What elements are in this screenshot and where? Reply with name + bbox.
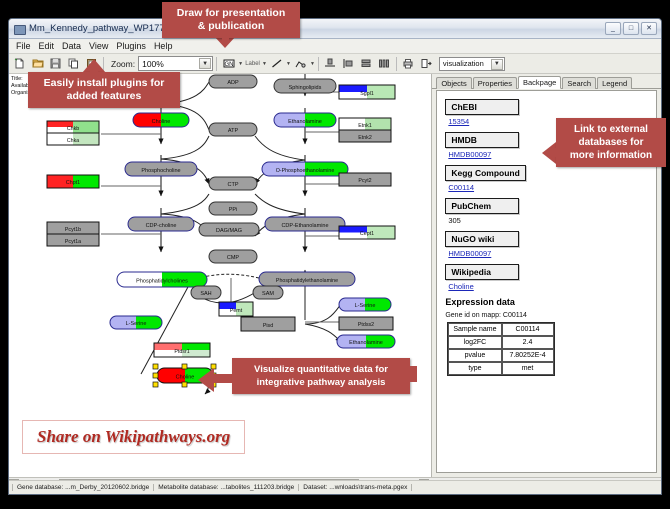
node-sam[interactable]: SAM: [253, 286, 283, 299]
menu-item-data[interactable]: Data: [58, 41, 85, 51]
node-sphingolipids[interactable]: Sphingolipids: [274, 79, 336, 93]
callout-plugins-line2: added features: [36, 90, 172, 103]
expr-value: 2.4: [502, 336, 554, 349]
gene-etnk1[interactable]: Etnk1: [339, 118, 391, 130]
node-phosphatidylethanolamine[interactable]: Phosphatidylethanolamine: [259, 272, 355, 286]
tab-backpage[interactable]: Backpage: [518, 76, 561, 89]
db-header-kegg: Kegg Compound: [445, 165, 525, 181]
toolbar: Zoom: 100% ▼ GN ▼ Label▼ ▼: [9, 54, 661, 74]
svg-text:Ptdsr1: Ptdsr1: [174, 349, 189, 355]
new-file-icon[interactable]: [11, 55, 28, 72]
gene-chkb[interactable]: Chkb: [47, 121, 99, 133]
callout-link: Link to external databases for more info…: [556, 118, 666, 167]
node-cmp[interactable]: CMP: [209, 250, 257, 263]
gene-cept1[interactable]: Cept1: [339, 226, 395, 239]
screenshot-root: Mm_Kennedy_pathway_WP1771_45176.gpml _ □…: [0, 0, 670, 509]
callout-visualize-line2: integrative pathway analysis: [240, 376, 402, 389]
table-row: Sample name C00114: [448, 323, 553, 336]
label-icon[interactable]: Label: [244, 55, 261, 72]
db-header-hmdb: HMDB: [445, 132, 519, 148]
svg-text:L-Serine: L-Serine: [126, 321, 147, 327]
minimize-button[interactable]: _: [605, 22, 621, 35]
gene-pemt[interactable]: Pemt: [219, 302, 253, 316]
callout-plugins-arrow-stem: [90, 66, 98, 74]
menu-bar: File Edit Data View Plugins Help: [9, 39, 661, 54]
label-tool[interactable]: Label▼: [244, 55, 267, 72]
gene-chpt1[interactable]: Chpt1: [47, 175, 99, 188]
pathvisio-icon: [13, 23, 25, 35]
open-folder-icon[interactable]: [29, 55, 46, 72]
node-phosphatidylcholines[interactable]: Phosphatidylcholines: [117, 272, 207, 287]
table-row: pvalue 7.80252E-4: [448, 349, 553, 362]
align-left-icon[interactable]: [340, 55, 357, 72]
node-cdp-ethanolamine[interactable]: CDP-Ethanolamine: [265, 217, 345, 231]
db-link-wikipedia[interactable]: Choline: [448, 282, 648, 291]
svg-text:Phosphatidylethanolamine: Phosphatidylethanolamine: [276, 278, 338, 284]
distribute-icon[interactable]: [376, 55, 393, 72]
expr-value: 7.80252E-4: [502, 349, 554, 362]
db-block-kegg: Kegg Compound C00114: [445, 163, 648, 192]
callout-visualize-arrow-stem: [212, 374, 234, 383]
node-sah[interactable]: SAH: [191, 286, 221, 299]
callout-visualize: Visualize quantitative data for integrat…: [232, 358, 410, 394]
svg-text:CDP-Ethanolamine: CDP-Ethanolamine: [281, 223, 328, 229]
zoom-combobox[interactable]: 100% ▼: [138, 56, 213, 71]
expr-key: log2FC: [448, 336, 501, 349]
callout-link-line1: Link to external: [564, 123, 658, 136]
svg-text:Choline: Choline: [176, 375, 195, 381]
stack-icon[interactable]: [358, 55, 375, 72]
svg-text:Ptdss2: Ptdss2: [358, 322, 374, 328]
callout-draw-line2: & publication: [170, 20, 292, 33]
gene-sgpl1[interactable]: Sgpl1: [339, 85, 395, 99]
expr-value: met: [502, 362, 554, 375]
svg-text:GN: GN: [224, 62, 233, 68]
zoom-value: 100%: [142, 59, 164, 69]
svg-text:PPi: PPi: [229, 207, 238, 213]
chevron-down-icon[interactable]: ▼: [310, 61, 315, 67]
expr-value: C00114: [502, 323, 554, 336]
pathway-diagram[interactable]: Sphingolipids Choline: [9, 74, 431, 477]
node-dagmag[interactable]: DAG/MAG: [199, 223, 259, 236]
gene-ptdss2[interactable]: Ptdss2: [339, 317, 393, 330]
node-ethanolamine[interactable]: Ethanolamine: [274, 113, 336, 127]
gene-pcyt2[interactable]: Pcyt2: [339, 173, 391, 186]
window-buttons: _ □ ✕: [605, 22, 657, 35]
toolbar-separator-3: [318, 57, 319, 71]
callout-draw-line1: Draw for presentation: [170, 7, 292, 20]
table-row: type met: [448, 362, 553, 375]
save-icon[interactable]: [47, 55, 64, 72]
gene-chka[interactable]: Chka: [47, 133, 99, 145]
status-dataset: Dataset: ...wnloads\trans-meta.pgex: [299, 484, 412, 491]
status-metabolite-database: Metabolite database: ...tabolites_111203…: [154, 484, 299, 491]
svg-text:CMP: CMP: [227, 255, 240, 261]
table-row: log2FC 2.4: [448, 336, 553, 349]
callout-link-line3: more information: [564, 149, 658, 162]
svg-text:Chpt1: Chpt1: [66, 180, 80, 186]
svg-text:L-Serine: L-Serine: [355, 303, 376, 309]
svg-text:ADP: ADP: [227, 80, 239, 86]
node-l-serine-left[interactable]: L-Serine: [110, 316, 162, 329]
zoom-label: Zoom:: [111, 59, 135, 69]
tab-search[interactable]: Search: [562, 77, 596, 89]
svg-text:DAG/MAG: DAG/MAG: [216, 228, 242, 234]
shape-tool[interactable]: ▼: [292, 55, 315, 72]
svg-text:Pemt: Pemt: [230, 308, 243, 314]
close-button[interactable]: ✕: [641, 22, 657, 35]
chevron-down-icon[interactable]: ▼: [262, 61, 267, 67]
visualization-value: visualization: [443, 59, 484, 68]
callout-draw: Draw for presentation & publication: [162, 2, 300, 38]
node-ppi[interactable]: PPi: [209, 202, 257, 215]
visualization-combobox[interactable]: visualization ▼: [439, 57, 505, 71]
shape-icon[interactable]: [292, 55, 309, 72]
callout-link-line2: databases for: [564, 136, 658, 149]
expr-key: pvalue: [448, 349, 501, 362]
node-adp[interactable]: ADP: [209, 75, 257, 88]
svg-text:Ethanolamine: Ethanolamine: [288, 119, 322, 125]
svg-text:Pcyt2: Pcyt2: [358, 178, 371, 184]
node-ctp[interactable]: CTP: [209, 177, 257, 190]
callout-plugins: Easily install plugins for added feature…: [28, 72, 180, 108]
svg-text:Etnk2: Etnk2: [358, 135, 372, 141]
gene-pisd[interactable]: Pisd: [241, 317, 295, 331]
gene-etnk2[interactable]: Etnk2: [339, 130, 391, 142]
align-icon[interactable]: [322, 55, 339, 72]
svg-text:Pisd: Pisd: [263, 323, 273, 329]
svg-text:Sgpl1: Sgpl1: [360, 91, 374, 97]
gene-id-label: Gene id on mapp: C00114: [445, 312, 648, 319]
menu-item-view[interactable]: View: [85, 41, 112, 51]
svg-text:Choline: Choline: [152, 119, 171, 125]
callout-link-arrow-stem: [550, 148, 558, 157]
svg-text:Etnk1: Etnk1: [358, 123, 372, 129]
svg-text:ATP: ATP: [228, 128, 239, 134]
node-l-serine-right[interactable]: L-Serine: [339, 298, 391, 311]
expr-key: Sample name: [448, 323, 501, 336]
db-block-wikipedia: Wikipedia Choline: [445, 262, 648, 291]
node-phosphocholine[interactable]: Phosphocholine: [125, 162, 197, 176]
datanode-icon[interactable]: GN: [220, 55, 237, 72]
status-bar: Gene database: ...m_Derby_20120602.bridg…: [9, 480, 661, 494]
menu-item-file[interactable]: File: [12, 41, 35, 51]
pathway-svg: Sphingolipids Choline: [9, 74, 431, 466]
tab-legend[interactable]: Legend: [597, 77, 632, 89]
tab-properties[interactable]: Properties: [473, 77, 517, 89]
node-cdp-choline[interactable]: CDP-choline: [128, 217, 194, 231]
node-o-phosphoethanolamine[interactable]: O-Phosphoethanolamine: [262, 162, 348, 176]
callout-plugins-line1: Easily install plugins for: [36, 77, 172, 90]
callout-share: Share on Wikipathways.org: [22, 420, 245, 454]
db-block-pubchem: PubChem 305: [445, 196, 648, 225]
db-header-pubchem: PubChem: [445, 198, 519, 214]
line-tool[interactable]: ▼: [268, 55, 291, 72]
svg-text:CTP: CTP: [228, 182, 239, 188]
svg-text:Phosphatidylcholines: Phosphatidylcholines: [136, 279, 188, 285]
callout-visualize-line1: Visualize quantitative data for: [240, 363, 402, 376]
gene-pcyt1a[interactable]: Pcyt1a: [47, 234, 99, 246]
menu-item-edit[interactable]: Edit: [35, 41, 59, 51]
callout-draw-arrow-stem: [222, 36, 229, 42]
callout-visualize-arrow-right-tab: [408, 366, 417, 382]
tab-objects[interactable]: Objects: [436, 77, 471, 89]
db-block-nugo: NuGO wiki HMDB00097: [445, 229, 648, 258]
db-header-wikipedia: Wikipedia: [445, 264, 519, 280]
toolbar-separator-4: [396, 57, 397, 71]
svg-text:Ethanolamine: Ethanolamine: [349, 340, 383, 346]
export-icon[interactable]: [418, 55, 435, 72]
db-header-nugo: NuGO wiki: [445, 231, 519, 247]
svg-text:Pcyt1b: Pcyt1b: [65, 227, 81, 233]
gene-pcyt1b[interactable]: Pcyt1b: [47, 222, 99, 234]
svg-text:Chkb: Chkb: [67, 126, 79, 132]
expression-data-title: Expression data: [445, 297, 648, 307]
chevron-down-icon[interactable]: ▼: [491, 59, 503, 70]
db-link-kegg[interactable]: C00114: [448, 183, 648, 192]
status-gene-database: Gene database: ...m_Derby_20120602.bridg…: [12, 484, 154, 491]
expression-table: Sample name C00114 log2FC 2.4 pvalue 7.8…: [447, 322, 554, 376]
toolbar-separator-2: [216, 57, 217, 71]
expr-key: type: [448, 362, 501, 375]
chevron-down-icon[interactable]: ▼: [238, 61, 243, 67]
svg-text:SAH: SAH: [200, 291, 211, 297]
svg-text:Pcyt1a: Pcyt1a: [65, 239, 81, 245]
menu-item-plugins[interactable]: Plugins: [112, 41, 150, 51]
svg-text:Cept1: Cept1: [360, 231, 374, 237]
datanode-tool[interactable]: GN ▼: [220, 55, 243, 72]
svg-text:CDP-choline: CDP-choline: [146, 223, 177, 229]
svg-text:Chka: Chka: [67, 138, 79, 144]
node-choline-top[interactable]: Choline: [133, 113, 189, 127]
node-atp[interactable]: ATP: [209, 123, 257, 136]
maximize-button[interactable]: □: [623, 22, 639, 35]
side-panel-tabs: Objects Properties Backpage Search Legen…: [432, 74, 661, 89]
db-link-nugo[interactable]: HMDB00097: [448, 249, 648, 258]
menu-item-help[interactable]: Help: [150, 41, 177, 51]
svg-text:O-Phosphoethanolamine: O-Phosphoethanolamine: [276, 168, 335, 174]
line-icon[interactable]: [268, 55, 285, 72]
chevron-down-icon[interactable]: ▼: [199, 58, 211, 69]
svg-text:Phosphocholine: Phosphocholine: [141, 168, 180, 174]
print-icon[interactable]: [400, 55, 417, 72]
db-header-chebi: ChEBI: [445, 99, 519, 115]
gene-ptdsr1[interactable]: Ptdsr1: [154, 343, 210, 357]
chevron-down-icon[interactable]: ▼: [286, 61, 291, 67]
copy-icon[interactable]: [65, 55, 82, 72]
svg-text:SAM: SAM: [262, 291, 274, 297]
title-bar: Mm_Kennedy_pathway_WP1771_45176.gpml _ □…: [9, 19, 661, 39]
svg-text:Sphingolipids: Sphingolipids: [289, 85, 322, 91]
db-value-pubchem: 305: [448, 216, 648, 225]
pathway-canvas-pane[interactable]: Title: Available Organism:: [9, 74, 432, 477]
node-ethanolamine-bottom[interactable]: Ethanolamine: [337, 335, 395, 348]
